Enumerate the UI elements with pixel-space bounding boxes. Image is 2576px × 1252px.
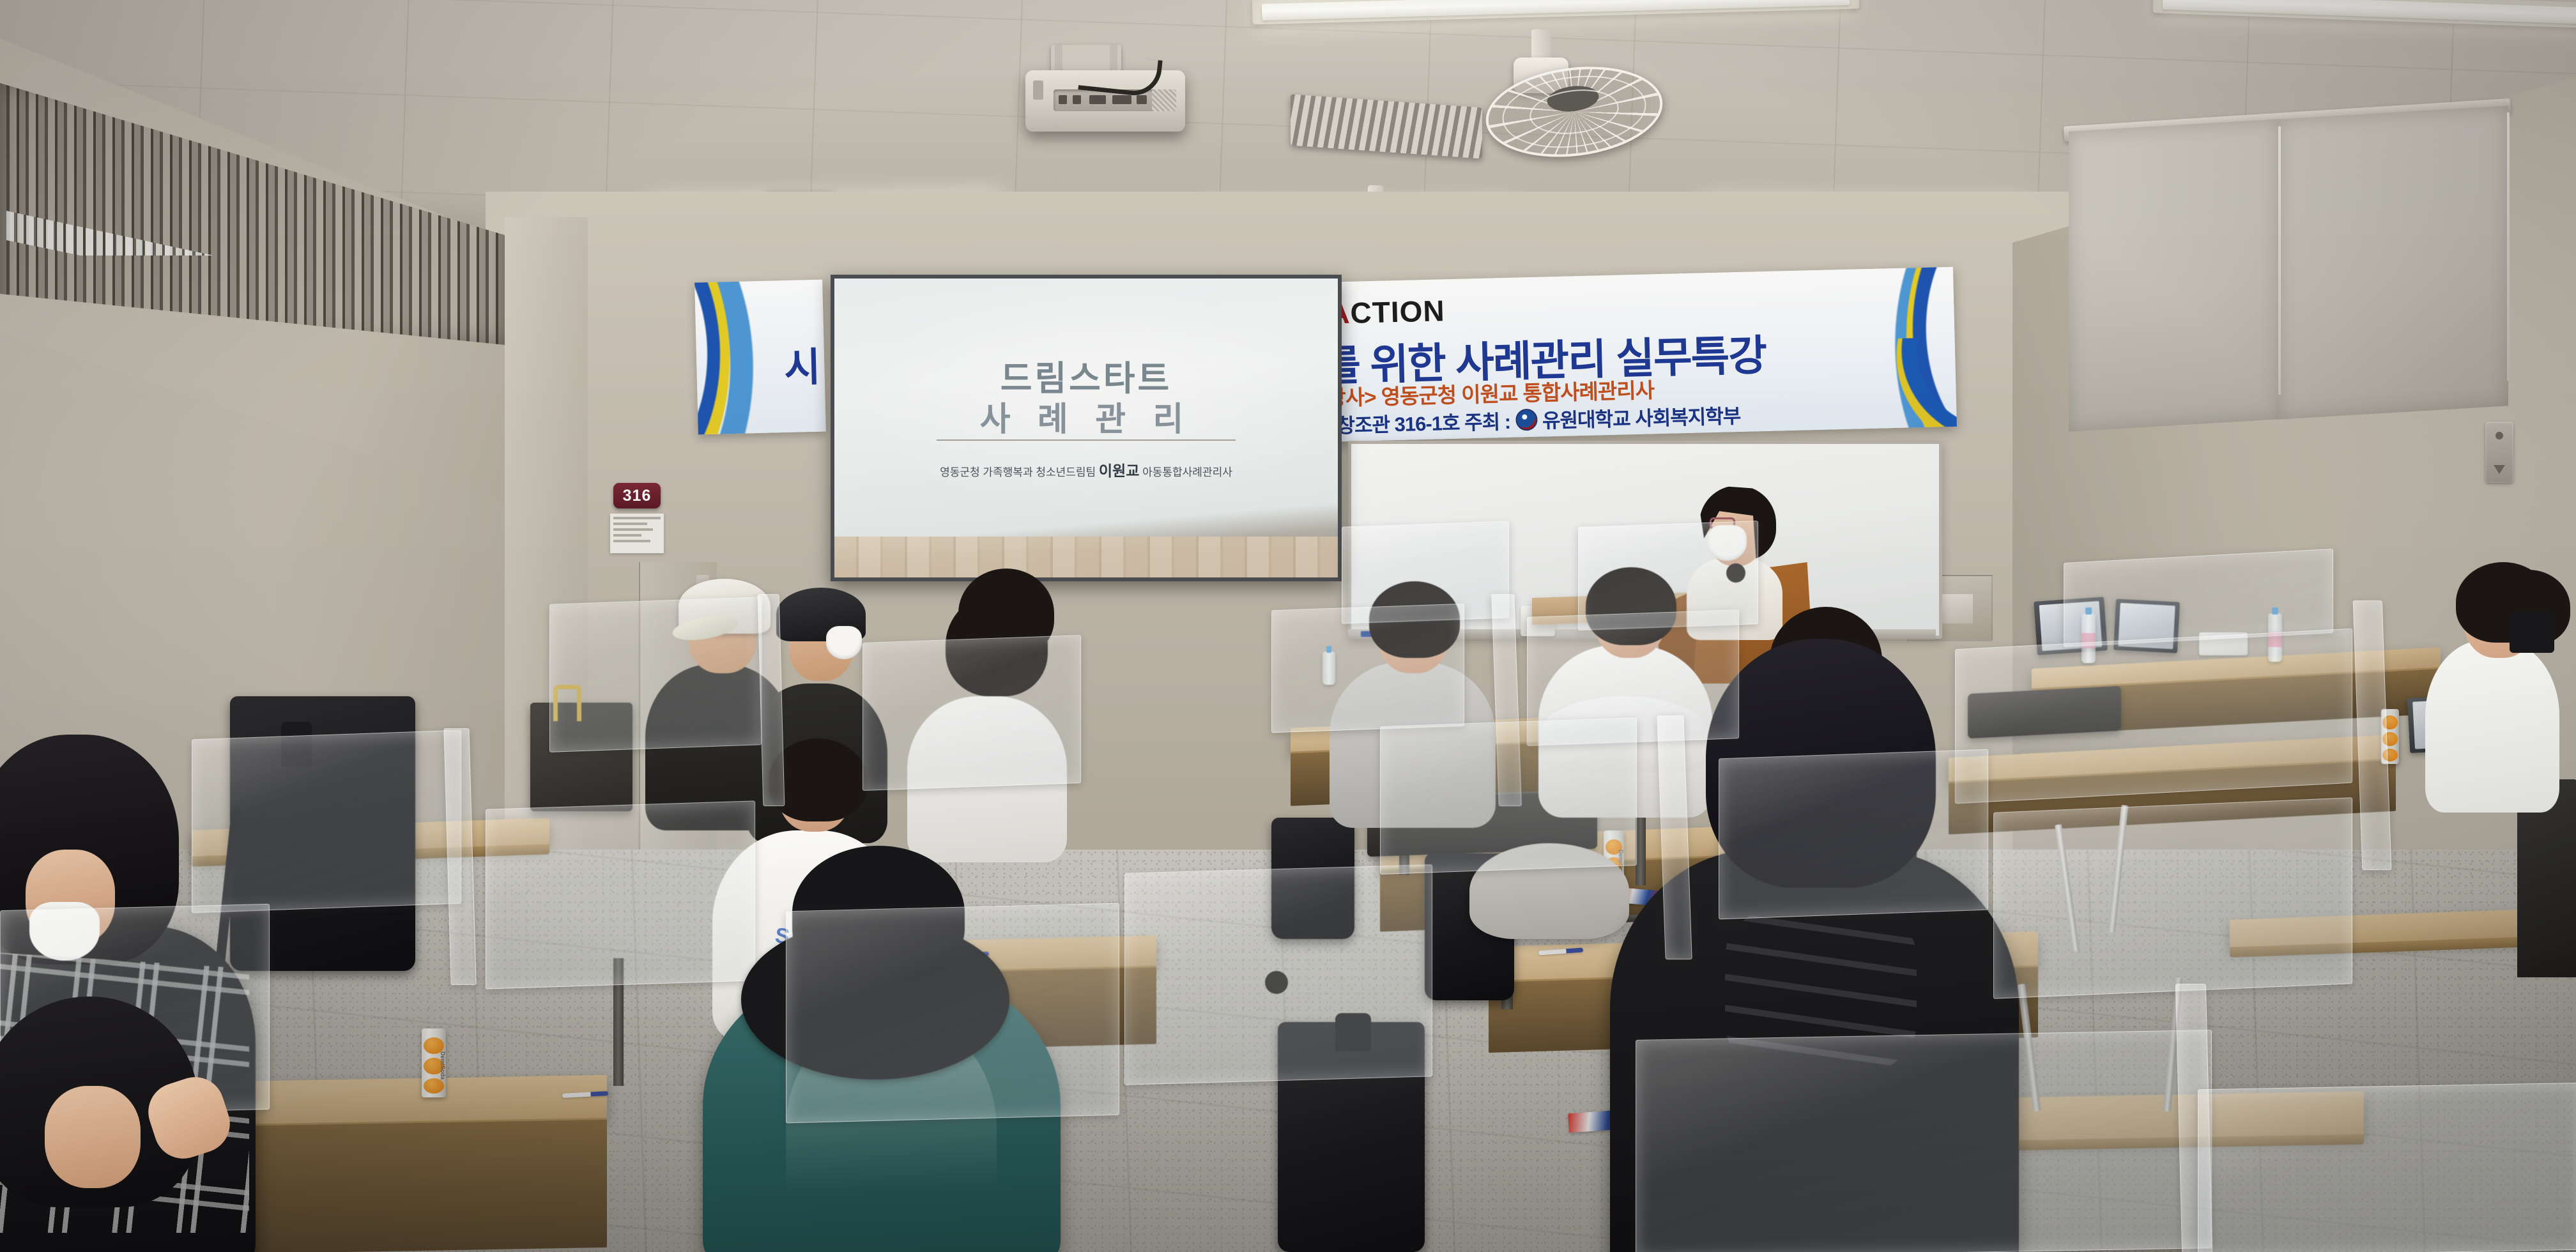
projection-screen: 드림스타트 사 례 관 리 영동군청 가족행복과 청소년드림팀 이원교 아동통합… <box>831 275 1342 581</box>
acrylic-divider-15 <box>2198 1083 2576 1252</box>
acrylic-divider-9 <box>192 730 461 913</box>
slide-credit-name: 이원교 <box>1099 462 1139 479</box>
roller-blind-chain[interactable] <box>2278 126 2281 395</box>
acrylic-divider-14 <box>1636 1030 2212 1252</box>
acrylic-divider-12 <box>786 903 1119 1124</box>
lecture-hall-photo: 316 시 ACTION 를 위한 사례관리 실무특강 강사> 영동군청 이원교… <box>0 0 2576 1252</box>
university-emblem-icon <box>1515 408 1538 431</box>
banner-left-fragment: 시 <box>694 280 826 435</box>
event-banner: ACTION 를 위한 사례관리 실무특강 강사> 영동군청 이원교 통합사례관… <box>1311 267 1957 442</box>
acrylic-divider-13 <box>1124 864 1432 1085</box>
banner-line-english: ACTION <box>1328 293 1446 330</box>
slide-divider-rule <box>937 439 1236 441</box>
roller-blind-panel-2[interactable] <box>2278 105 2508 419</box>
projector-vent <box>1033 80 1043 100</box>
student-right-black-mask <box>2510 612 2554 653</box>
projection-screen-surface: 드림스타트 사 례 관 리 영동군청 가족행복과 청소년드림팀 이원교 아동통합… <box>834 279 1338 577</box>
soda-can-label-3: DemiSoda <box>422 1031 446 1097</box>
acrylic-divider-6 <box>1993 797 2352 999</box>
banner-line-english-rest: CTION <box>1350 294 1445 330</box>
student-black-cap-mask <box>826 626 862 659</box>
banner-organizer-text: 유원대학교 사회복지학부 <box>1542 400 1740 434</box>
slide-credit-org: 영동군청 가족행복과 청소년드림팀 <box>940 466 1096 478</box>
wall-control-plate[interactable] <box>2485 422 2513 483</box>
acrylic-divider-8 <box>862 635 1081 791</box>
room-number-label: 316 <box>623 487 652 505</box>
banner-swoosh-bottom <box>1789 337 1957 442</box>
slide-credit-line: 영동군청 가족행복과 청소년드림팀 이원교 아동통합사례관리사 <box>834 459 1338 480</box>
banner-venue-text: : 창조관 316-1호 주최 : <box>1326 406 1511 439</box>
acrylic-divider-3 <box>1380 717 1637 874</box>
room-notice-paper <box>610 514 664 553</box>
slide-subtitle: 사 례 관 리 <box>834 392 1338 440</box>
room-number-plaque: 316 <box>613 483 661 508</box>
soda-can-left-1[interactable]: DemiSoda <box>422 1028 446 1097</box>
student-bottom-left-face <box>45 1086 141 1188</box>
roller-blind-panel-1[interactable] <box>2069 119 2280 432</box>
acrylic-divider-10 <box>486 800 755 989</box>
slide-wood-floor-image <box>834 537 1338 577</box>
student-right-body <box>2425 640 2559 813</box>
slide-credit-role: 아동통합사례관리사 <box>1142 466 1232 478</box>
projector-speaker-grille <box>1152 89 1176 111</box>
acrylic-divider-5 <box>1955 629 2352 804</box>
acrylic-divider-4 <box>1719 749 1988 920</box>
acrylic-divider-1 <box>1271 604 1464 733</box>
acrylic-divider-7 <box>549 597 762 752</box>
roller-blind-chain-2[interactable] <box>2507 112 2510 381</box>
